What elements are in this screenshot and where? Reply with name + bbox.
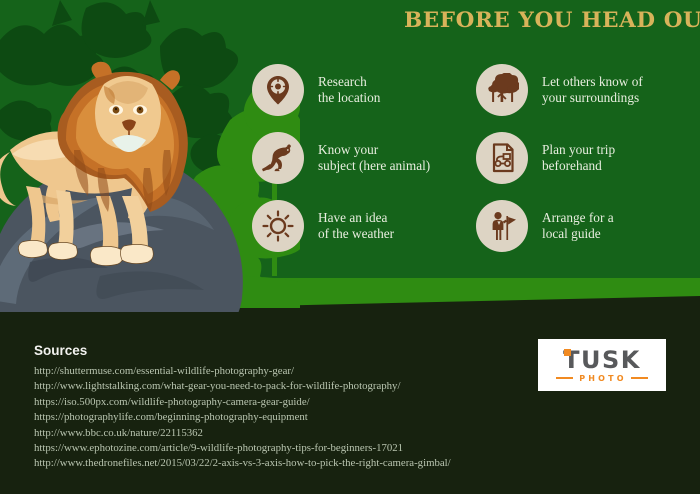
source-link[interactable]: https://iso.500px.com/wildlife-photograp… bbox=[34, 395, 451, 410]
logo-subline: PHOTO bbox=[556, 374, 648, 383]
kangaroo-icon bbox=[252, 132, 304, 184]
tip-label: Plan your trip beforehand bbox=[542, 142, 615, 175]
tip-line-1: Let others know of bbox=[542, 74, 643, 89]
tip-item-know-your-subject[interactable]: Know your subject (here animal) bbox=[252, 124, 476, 192]
tip-line-2: your surroundings bbox=[542, 90, 643, 107]
tip-item-local-guide[interactable]: Arrange for a local guide bbox=[476, 192, 700, 260]
page-title: BEFORE YOU HEAD OUT bbox=[404, 8, 688, 33]
tips-row: Research the location bbox=[252, 56, 700, 124]
tips-row: Have an idea of the weather bbox=[252, 192, 700, 260]
tip-line-2: of the weather bbox=[318, 226, 394, 243]
tip-label: Know your subject (here animal) bbox=[318, 142, 430, 175]
tip-line-1: Research bbox=[318, 74, 367, 89]
source-link[interactable]: http://shuttermuse.com/essential-wildlif… bbox=[34, 364, 451, 379]
tip-line-2: beforehand bbox=[542, 158, 615, 175]
guide-person-flag-icon bbox=[476, 200, 528, 252]
logo-dash-left bbox=[556, 377, 573, 379]
sun-icon bbox=[252, 200, 304, 252]
tip-line-2: the location bbox=[318, 90, 380, 107]
plan-document-icon bbox=[476, 132, 528, 184]
tip-item-let-others-know[interactable]: Let others know of your surroundings bbox=[476, 56, 700, 124]
tip-line-1: Plan your trip bbox=[542, 142, 615, 157]
sources-heading: Sources bbox=[34, 343, 87, 358]
source-link[interactable]: http://www.bbc.co.uk/nature/22115362 bbox=[34, 426, 451, 441]
source-link[interactable]: http://www.thedronefiles.net/2015/03/22/… bbox=[34, 456, 451, 471]
source-link[interactable]: http://www.lightstalking.com/what-gear-y… bbox=[34, 379, 451, 394]
tip-item-weather[interactable]: Have an idea of the weather bbox=[252, 192, 476, 260]
tip-line-1: Know your bbox=[318, 142, 378, 157]
tips-grid: Research the location bbox=[252, 56, 700, 260]
logo-accent-square bbox=[564, 349, 571, 356]
tips-row: Know your subject (here animal) bbox=[252, 124, 700, 192]
location-pin-icon bbox=[252, 64, 304, 116]
tip-item-plan-your-trip[interactable]: Plan your trip beforehand bbox=[476, 124, 700, 192]
logo-main-text: TUSK bbox=[563, 346, 641, 374]
tip-label: Arrange for a local guide bbox=[542, 210, 614, 243]
source-link[interactable]: https://www.ephotozine.com/article/9-wil… bbox=[34, 441, 451, 456]
tip-line-2: subject (here animal) bbox=[318, 158, 430, 175]
logo-dash-right bbox=[631, 377, 648, 379]
trees-icon bbox=[476, 64, 528, 116]
source-link[interactable]: https://photographylife.com/beginning-ph… bbox=[34, 410, 451, 425]
sources-list: http://shuttermuse.com/essential-wildlif… bbox=[34, 364, 451, 472]
tip-line-1: Arrange for a bbox=[542, 210, 614, 225]
tip-label: Have an idea of the weather bbox=[318, 210, 394, 243]
infographic-poster: BEFORE YOU HEAD OUT Resear bbox=[0, 0, 700, 494]
tip-line-1: Have an idea bbox=[318, 210, 387, 225]
logo-wordmark: TUSK bbox=[563, 348, 641, 372]
tip-item-research-location[interactable]: Research the location bbox=[252, 56, 476, 124]
tip-label: Research the location bbox=[318, 74, 380, 107]
logo-sub-text: PHOTO bbox=[579, 374, 627, 383]
tip-label: Let others know of your surroundings bbox=[542, 74, 643, 107]
tip-line-2: local guide bbox=[542, 226, 614, 243]
tusk-photo-logo[interactable]: TUSK PHOTO bbox=[538, 339, 666, 391]
